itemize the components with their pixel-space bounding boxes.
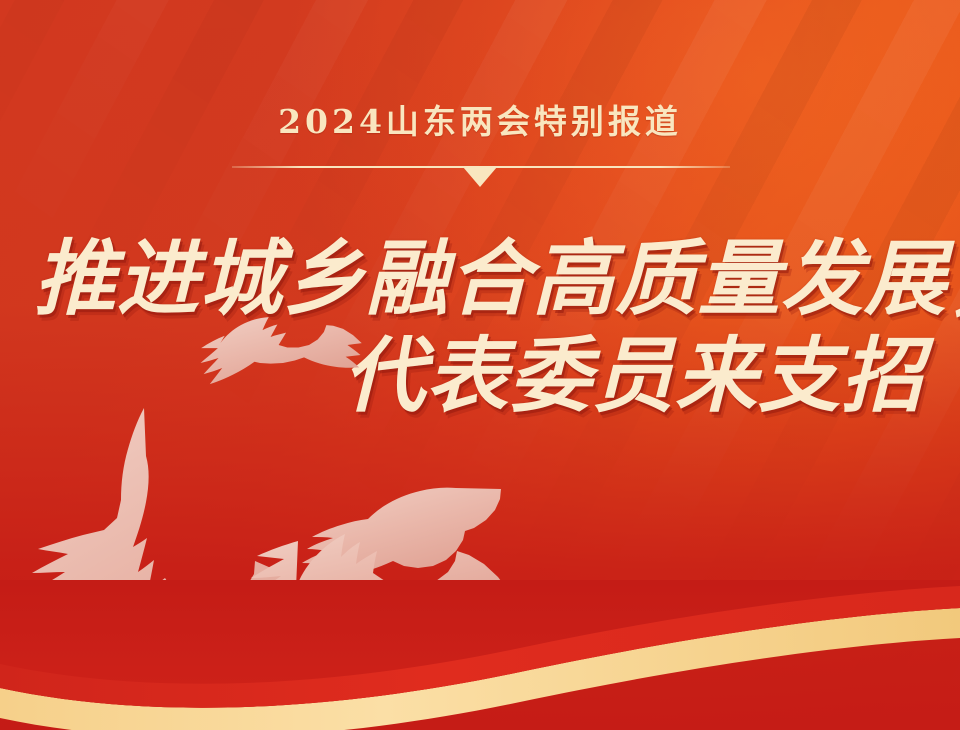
eyebrow-row: 2024山东两会特别报道: [0, 104, 960, 140]
bottom-wave-divider: [0, 580, 960, 730]
poster-canvas: 2024山东两会特别报道 推进城乡融合高质量发展， 代表委员来支招: [0, 0, 960, 730]
eyebrow-text: 2024山东两会特别报道: [278, 104, 682, 140]
headline-line-1: 推进城乡融合高质量发展，: [0, 232, 960, 329]
headline-block: 推进城乡融合高质量发展， 代表委员来支招: [0, 232, 960, 426]
chevron-down-icon: [463, 167, 497, 187]
headline-line-2: 代表委员来支招: [0, 329, 960, 426]
